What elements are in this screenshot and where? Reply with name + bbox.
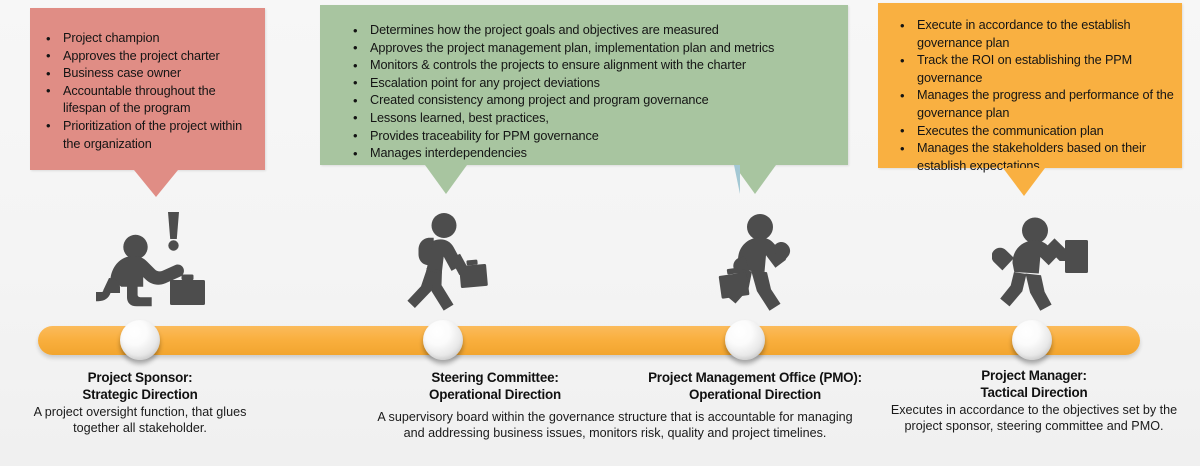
list-item: Approves the project charter (40, 48, 253, 66)
role-label-pmo: Project Management Office (PMO): Operati… (600, 370, 910, 403)
list-item: Business case owner (40, 65, 253, 83)
list-item: Created consistency among project and pr… (347, 92, 838, 110)
list-item: Escalation point for any project deviati… (347, 75, 838, 93)
callout-steering-pmo-list: Determines how the project goals and obj… (347, 22, 838, 163)
role-title-line1: Project Management Office (PMO): (600, 370, 910, 387)
callout-manager-pointer (1003, 168, 1045, 196)
callout-sponsor-list: Project champion Approves the project ch… (40, 30, 253, 153)
timeline-node-pmo[interactable] (725, 320, 765, 360)
list-item: Project champion (40, 30, 253, 48)
timeline-node-manager[interactable] (1012, 320, 1052, 360)
role-title-line2: Operational Direction (600, 387, 910, 404)
role-label-manager: Project Manager: Tactical Direction Exec… (888, 368, 1180, 435)
list-item: Provides traceability for PPM governance (347, 128, 838, 146)
role-description: A project oversight function, that glues… (20, 404, 260, 437)
role-title-line2: Tactical Direction (888, 385, 1180, 402)
role-label-sponsor: Project Sponsor: Strategic Direction A p… (20, 370, 260, 437)
list-item: Approves the project management plan, im… (347, 40, 838, 58)
list-item: Manages interdependencies (347, 145, 838, 163)
list-item: Executes the communication plan (894, 123, 1174, 141)
timeline-node-steering[interactable] (423, 320, 463, 360)
role-title-line1: Project Manager: (888, 368, 1180, 385)
callout-sponsor-pointer (134, 170, 178, 197)
callout-steering-pmo-body: Determines how the project goals and obj… (320, 5, 848, 165)
list-item: Accountable throughout the lifespan of t… (40, 83, 253, 118)
governance-diagram-canvas: Project champion Approves the project ch… (0, 0, 1200, 466)
callout-manager: Execute in accordance to the establish g… (878, 3, 1182, 168)
list-item: Monitors & controls the projects to ensu… (347, 57, 838, 75)
list-item: Lessons learned, best practices, (347, 110, 838, 128)
role-title-line1: Project Sponsor: (20, 370, 260, 387)
timeline-node-sponsor[interactable] (120, 320, 160, 360)
kneeling-person-with-briefcase-and-exclamation-icon (96, 206, 216, 314)
role-description: Executes in accordance to the objectives… (888, 402, 1180, 435)
callout-steering-pointer (425, 165, 467, 194)
callout-steering-pmo: Determines how the project goals and obj… (320, 5, 848, 165)
list-item: Determines how the project goals and obj… (347, 22, 838, 40)
shared-description-steering-pmo: A supervisory board within the governanc… (370, 409, 860, 442)
callout-manager-body: Execute in accordance to the establish g… (878, 3, 1182, 168)
running-person-carrying-briefcase-forward-icon (992, 214, 1092, 312)
list-item: Prioritization of the project within the… (40, 118, 253, 153)
callout-manager-list: Execute in accordance to the establish g… (894, 17, 1174, 175)
timeline-bar (38, 326, 1140, 355)
list-item: Track the ROI on establishing the PPM go… (894, 52, 1174, 87)
running-person-with-briefcase-icon (712, 212, 806, 314)
list-item: Execute in accordance to the establish g… (894, 17, 1174, 52)
callout-sponsor: Project champion Approves the project ch… (30, 8, 265, 170)
role-title-line2: Strategic Direction (20, 387, 260, 404)
list-item: Manages the progress and performance of … (894, 87, 1174, 122)
callout-pmo-pointer (734, 165, 776, 194)
walking-person-with-backpack-and-briefcase-icon (404, 212, 496, 314)
callout-sponsor-body: Project champion Approves the project ch… (30, 8, 265, 170)
